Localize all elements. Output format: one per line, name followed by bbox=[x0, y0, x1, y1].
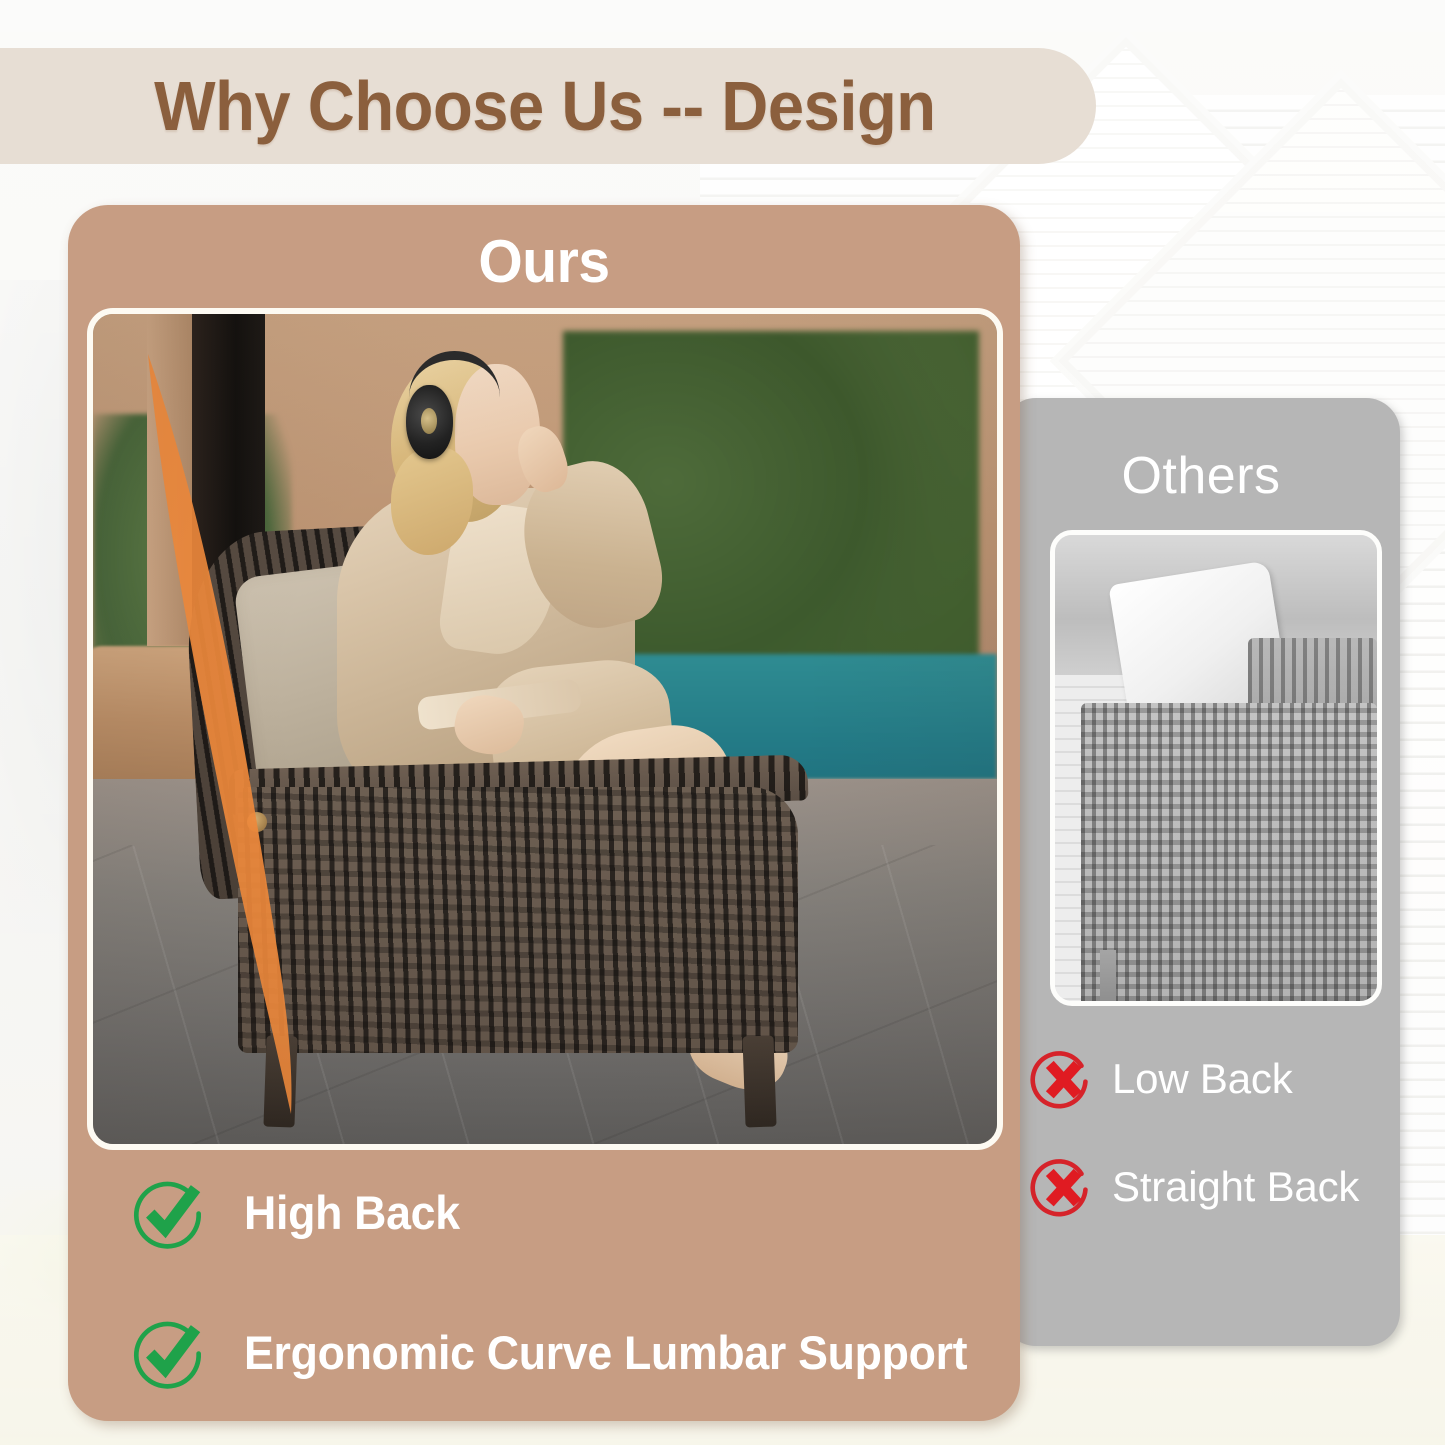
list-item: High Back bbox=[130, 1173, 990, 1251]
others-drawback-list: Low Back Straight Back bbox=[1030, 1046, 1388, 1220]
list-item: Straight Back bbox=[1030, 1154, 1388, 1220]
photo-chair-bolt bbox=[247, 812, 267, 832]
page-title: Why Choose Us -- Design bbox=[121, 66, 936, 146]
others-panel-title: Others bbox=[1002, 446, 1400, 506]
others-panel: Others Low Back bbox=[1002, 398, 1400, 1346]
list-item-label: Straight Back bbox=[1112, 1163, 1359, 1211]
green-check-circle-icon bbox=[130, 1173, 208, 1251]
infographic-canvas: Why Choose Us -- Design Others Lo bbox=[0, 0, 1445, 1445]
others-product-photo bbox=[1050, 530, 1382, 1006]
others-photo-sofa-body bbox=[1081, 703, 1377, 1001]
others-photo-leg bbox=[1100, 950, 1116, 1001]
ours-panel-title: Ours bbox=[92, 227, 996, 296]
red-x-circle-icon bbox=[1030, 1046, 1096, 1112]
red-x-circle-icon bbox=[1030, 1154, 1096, 1220]
photo-door-surround bbox=[147, 314, 192, 646]
list-item-label: High Back bbox=[244, 1185, 460, 1240]
list-item-label: Low Back bbox=[1112, 1055, 1293, 1103]
list-item: Low Back bbox=[1030, 1046, 1388, 1112]
list-item-label: Ergonomic Curve Lumbar Support bbox=[244, 1325, 967, 1380]
photo-chair-leg-front bbox=[263, 1036, 297, 1128]
photo-chair-leg-rear bbox=[742, 1036, 776, 1128]
header-banner: Why Choose Us -- Design bbox=[0, 48, 1096, 164]
list-item: Ergonomic Curve Lumbar Support bbox=[130, 1313, 990, 1391]
ours-feature-list: High Back Ergonomic Curve Lumbar Support bbox=[130, 1173, 990, 1391]
ours-panel: Ours bbox=[68, 205, 1020, 1421]
photo-chair-seat-base bbox=[238, 787, 798, 1053]
green-check-circle-icon bbox=[130, 1313, 208, 1391]
ours-product-photo bbox=[87, 308, 1003, 1150]
headphone-earcup-icon bbox=[406, 385, 453, 460]
